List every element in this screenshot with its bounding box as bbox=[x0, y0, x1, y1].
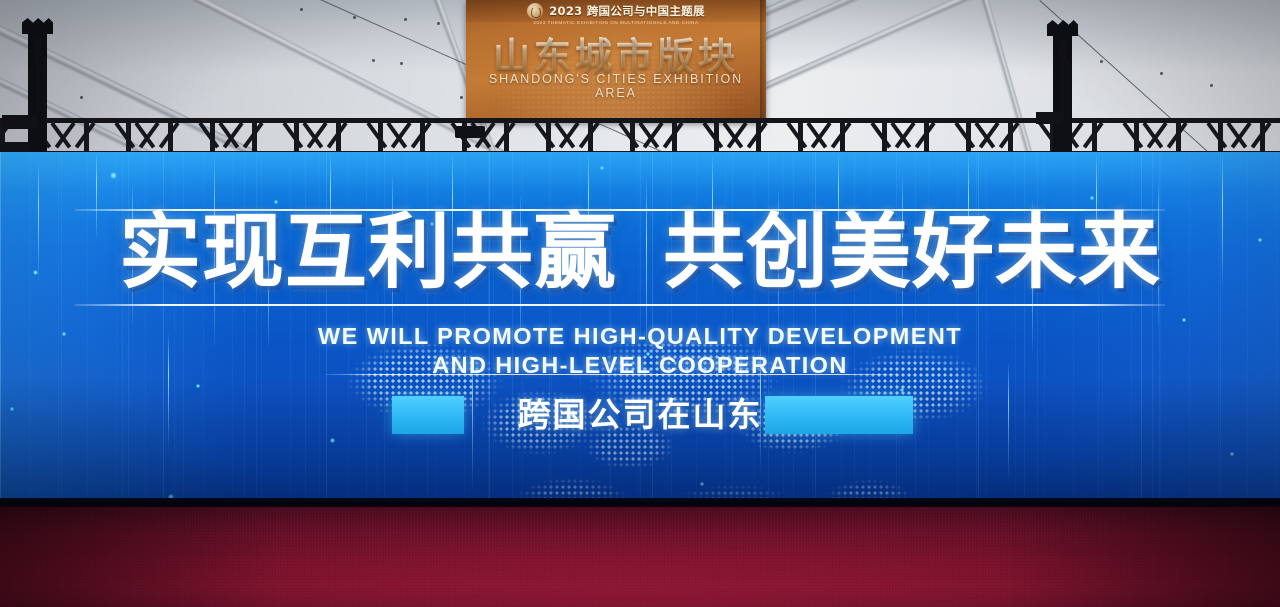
truss-vertical-member bbox=[1134, 123, 1139, 151]
headline-part-1: 实现互利共赢 bbox=[119, 205, 617, 300]
truss-vertical-member bbox=[882, 123, 887, 151]
truss-diagonal-member bbox=[534, 122, 555, 149]
truss-diagonal-member bbox=[786, 122, 807, 149]
ceiling-fixture bbox=[80, 96, 83, 99]
truss-diagonal-member bbox=[870, 122, 891, 149]
headline: 实现互利共赢共创美好未来 bbox=[0, 212, 1280, 294]
red-carpet-floor bbox=[0, 507, 1280, 607]
sign-right-edge-shadow bbox=[760, 0, 766, 122]
overhead-lighting-truss bbox=[0, 118, 1280, 156]
tower-left-hoist bbox=[34, 36, 41, 58]
tagline-row: 跨国公司在山东 bbox=[0, 392, 1280, 440]
truss-web-bracing bbox=[0, 118, 1280, 156]
sign-title-english: SHANDONG'S CITIES EXHIBITION AREA bbox=[466, 72, 766, 100]
ceiling-fixture bbox=[1100, 60, 1103, 63]
truss-diagonal-member bbox=[618, 122, 639, 149]
subtitle-underline-rule bbox=[325, 374, 900, 375]
ceiling-fixture bbox=[404, 18, 407, 21]
ceiling-fixture bbox=[460, 96, 463, 99]
truss-vertical-member bbox=[714, 123, 719, 151]
tower-left-base-box bbox=[0, 142, 30, 152]
truss-diagonal-member bbox=[702, 122, 723, 149]
sign-header-english: 2023 THEMATIC EXHIBITION ON MULTINATIONA… bbox=[466, 20, 766, 25]
stage-led-backdrop: 实现互利共赢共创美好未来 WE WILL PROMOTE HIGH-QUALIT… bbox=[0, 152, 1280, 498]
truss-vertical-member bbox=[378, 123, 383, 151]
shandong-cities-exhibition-sign: 2023 跨国公司与中国主题展 2023 THEMATIC EXHIBITION… bbox=[466, 0, 766, 122]
ceiling-fixture bbox=[1210, 84, 1213, 87]
subtitle-line-1: WE WILL PROMOTE HIGH-QUALITY DEVELOPMENT bbox=[0, 322, 1280, 351]
truss-diagonal-member bbox=[1206, 122, 1227, 149]
truss-diagonal-member bbox=[366, 122, 387, 149]
swirl-emblem-icon bbox=[527, 3, 543, 19]
truss-diagonal-member bbox=[282, 122, 303, 149]
truss-vertical-member bbox=[1218, 123, 1223, 151]
tower-right-hoist bbox=[1059, 38, 1066, 60]
subtitle-line-2: AND HIGH-LEVEL COOPERATION bbox=[0, 351, 1280, 380]
stage-scene: 2023 跨国公司与中国主题展 2023 THEMATIC EXHIBITION… bbox=[0, 0, 1280, 607]
tower-left-wire bbox=[37, 56, 38, 122]
truss-vertical-member bbox=[966, 123, 971, 151]
tower-right-wire bbox=[1062, 58, 1063, 120]
truss-vertical-member bbox=[210, 123, 215, 151]
tower-left-head bbox=[22, 18, 53, 34]
truss-diagonal-member bbox=[1122, 122, 1143, 149]
truss-diagonal-member bbox=[114, 122, 135, 149]
ceiling-fixture bbox=[353, 16, 356, 19]
headline-bottom-rule bbox=[75, 304, 1165, 306]
tagline-chinese: 跨国公司在山东 bbox=[0, 392, 1280, 438]
sign-header-chinese: 2023 跨国公司与中国主题展 bbox=[549, 3, 705, 19]
led-content: 实现互利共赢共创美好未来 WE WILL PROMOTE HIGH-QUALIT… bbox=[0, 152, 1280, 498]
truss-vertical-member bbox=[294, 123, 299, 151]
truss-vertical-member bbox=[630, 123, 635, 151]
ceiling-fixture bbox=[437, 22, 440, 25]
subtitle: WE WILL PROMOTE HIGH-QUALITY DEVELOPMENT… bbox=[0, 322, 1280, 379]
ceiling-fixture bbox=[1160, 72, 1163, 75]
truss-diagonal-member bbox=[198, 122, 219, 149]
tower-left-wire bbox=[44, 56, 45, 122]
truss-vertical-member bbox=[546, 123, 551, 151]
ceiling-fixture bbox=[400, 62, 403, 65]
ceiling-fixture bbox=[300, 8, 303, 11]
headline-part-2: 共创美好未来 bbox=[663, 205, 1161, 300]
ceiling-fixture bbox=[372, 59, 375, 62]
truss-vertical-member bbox=[798, 123, 803, 151]
carpet-vignette bbox=[0, 507, 1280, 607]
truss-vertical-member bbox=[126, 123, 131, 151]
tower-right-head bbox=[1047, 20, 1078, 36]
tower-right-wire bbox=[1068, 58, 1069, 120]
truss-center-hoist bbox=[455, 126, 485, 138]
tower-left-deck-box bbox=[2, 115, 38, 129]
truss-diagonal-member bbox=[954, 122, 975, 149]
sign-header: 2023 跨国公司与中国主题展 bbox=[466, 0, 766, 22]
tower-right-deck-box bbox=[1036, 112, 1062, 124]
